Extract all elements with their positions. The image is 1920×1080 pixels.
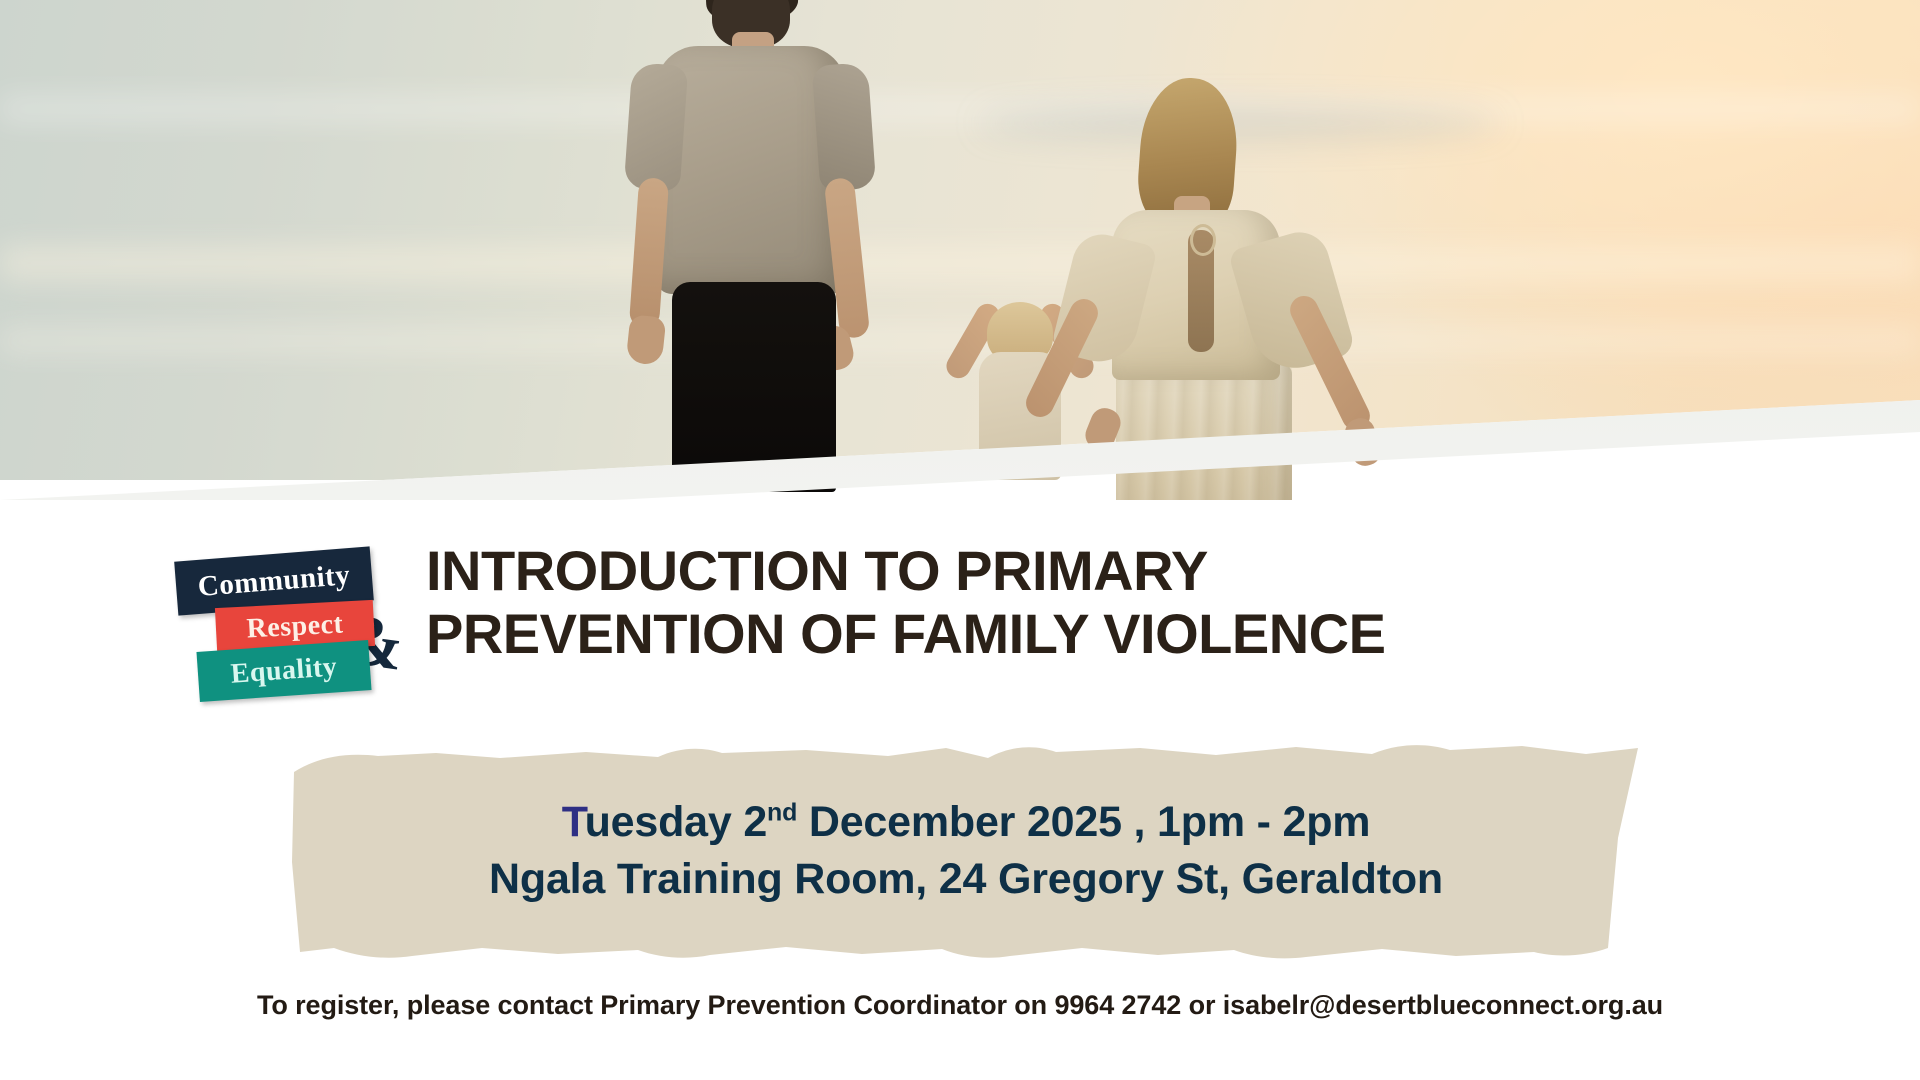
man-sleeve-right: [812, 62, 877, 192]
event-date-time: Tuesday 2nd December 2025 , 1pm - 2pm: [562, 798, 1371, 847]
community-respect-equality-logo: & Community Respect Equality: [176, 554, 406, 704]
headline-line-1: INTRODUCTION TO PRIMARY: [426, 540, 1385, 603]
event-location: Ngala Training Room, 24 Gregory St, Gera…: [489, 855, 1443, 904]
date-main: uesday 2: [585, 798, 767, 846]
woman-figure: [1030, 78, 1390, 478]
banner-text-block: Tuesday 2nd December 2025 , 1pm - 2pm Ng…: [286, 742, 1646, 960]
hero-photo-region: [0, 0, 1920, 500]
man-sleeve-left: [624, 62, 689, 192]
page-title: INTRODUCTION TO PRIMARY PREVENTION OF FA…: [426, 540, 1385, 665]
event-details-banner: Tuesday 2nd December 2025 , 1pm - 2pm Ng…: [286, 742, 1646, 960]
registration-contact-line: To register, please contact Primary Prev…: [0, 990, 1920, 1021]
title-row: & Community Respect Equality INTRODUCTIO…: [0, 540, 1920, 704]
woman-skirt: [1116, 364, 1292, 500]
flyer-content: & Community Respect Equality INTRODUCTIO…: [0, 520, 1920, 1080]
date-suffix: December 2025 , 1pm - 2pm: [797, 798, 1370, 846]
man-figure: [620, 0, 880, 460]
date-ordinal: nd: [767, 799, 797, 827]
woman-dress-tie: [1190, 224, 1216, 256]
date-accent-letter: T: [562, 798, 585, 846]
man-hand-left: [626, 314, 667, 366]
logo-band-equality: Equality: [196, 640, 371, 702]
headline-line-2: PREVENTION OF FAMILY VIOLENCE: [426, 603, 1385, 666]
man-arm-left: [629, 177, 669, 329]
